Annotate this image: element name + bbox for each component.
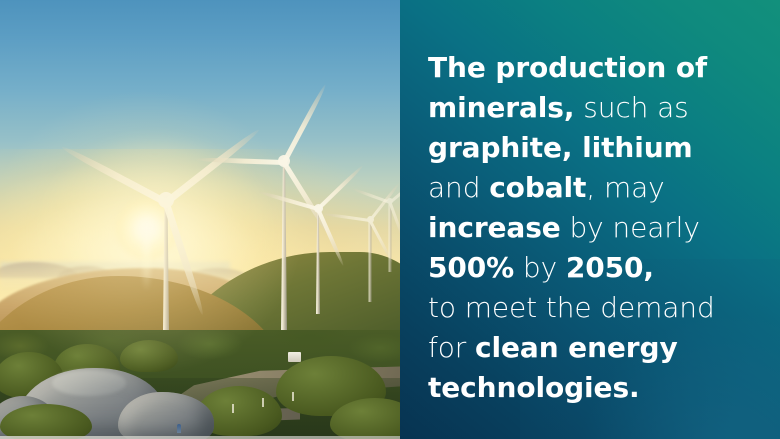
roadside-post — [262, 398, 264, 407]
quote-run: and — [428, 171, 489, 204]
quote-emphasis: technologies. — [428, 371, 640, 404]
quote-run: such as — [574, 91, 688, 124]
infographic-canvas: The production ofminerals, such asgraphi… — [0, 0, 780, 439]
quote-run: , may — [586, 171, 664, 204]
hero-photo — [0, 0, 400, 439]
quote-run: by nearly — [561, 211, 700, 244]
quote-run: by — [514, 251, 566, 284]
quote-line: 500% by 2050, — [428, 248, 766, 288]
quote-line: graphite, lithium — [428, 128, 766, 168]
quote-run: to meet the demand — [428, 291, 715, 324]
quote-emphasis: The production of — [428, 51, 707, 84]
quote-emphasis: clean energy — [475, 331, 678, 364]
shrub — [120, 340, 178, 372]
roadside-post — [232, 404, 234, 413]
turbine-hub — [158, 192, 174, 208]
turbine-blade — [163, 201, 206, 315]
quote-emphasis: 2050, — [566, 251, 654, 284]
roadside-post — [292, 392, 294, 401]
turbine-hub — [367, 216, 374, 223]
turbine-hub — [314, 204, 323, 213]
quote-line: and cobalt, may — [428, 168, 766, 208]
quote-line: technologies. — [428, 368, 766, 408]
quote-line: increase by nearly — [428, 208, 766, 248]
quote-panel: The production ofminerals, such asgraphi… — [400, 0, 780, 439]
quote-line: to meet the demand — [428, 288, 766, 328]
quote-emphasis: cobalt — [489, 171, 586, 204]
quote-line: for clean energy — [428, 328, 766, 368]
hillside-building — [288, 352, 301, 362]
quote-emphasis: 500% — [428, 251, 514, 284]
quote-emphasis: minerals, — [428, 91, 574, 124]
quote-text: The production ofminerals, such asgraphi… — [428, 48, 766, 408]
quote-line: minerals, such as — [428, 88, 766, 128]
quote-run: for — [428, 331, 475, 364]
quote-line: The production of — [428, 48, 766, 88]
wind-turbine-distant — [296, 206, 340, 314]
wind-turbine-distant — [376, 200, 400, 272]
turbine-tower — [369, 218, 372, 302]
person-figure — [177, 424, 181, 433]
quote-emphasis: graphite, lithium — [428, 131, 693, 164]
turbine-hub — [387, 198, 393, 204]
turbine-tower — [281, 158, 287, 330]
lens-flare — [142, 226, 151, 292]
turbine-tower — [316, 206, 320, 314]
turbine-hub — [278, 155, 290, 167]
boulder-highlight — [52, 370, 126, 396]
quote-emphasis: increase — [428, 211, 561, 244]
